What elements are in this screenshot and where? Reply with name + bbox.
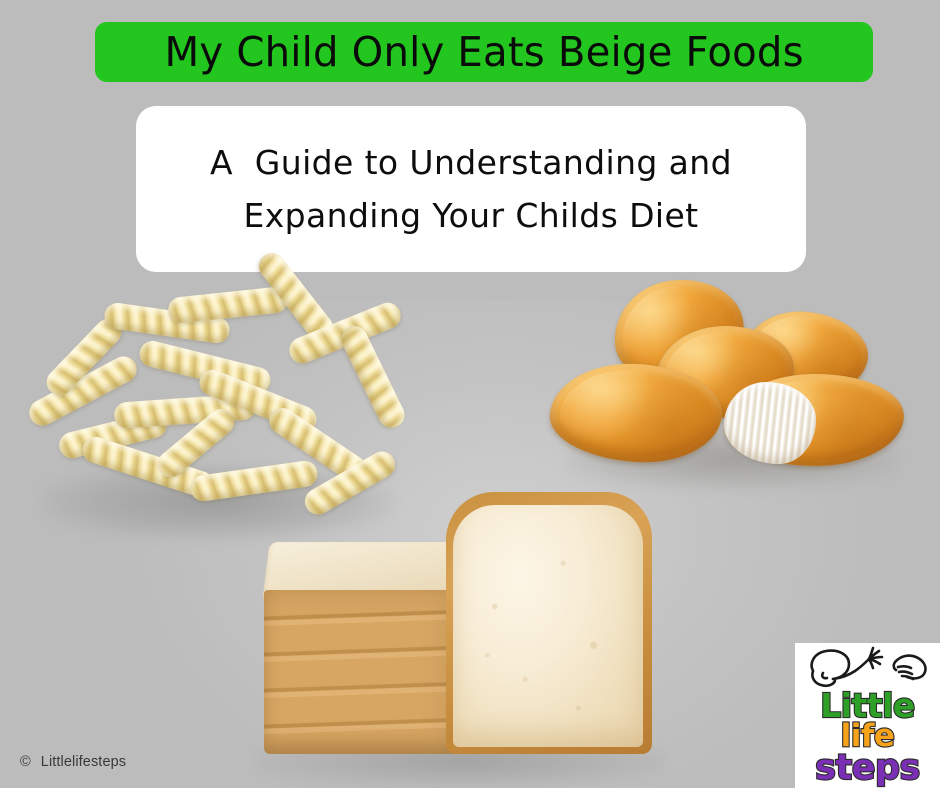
white-bread-image — [250, 482, 674, 782]
nugget — [740, 306, 872, 401]
bread-upright-slice — [446, 492, 652, 754]
logo-word-little: Little — [820, 691, 915, 721]
bread-stack — [264, 542, 480, 754]
bread-slice-crust — [446, 492, 652, 754]
pasta-piece — [285, 299, 404, 367]
pasta-piece — [41, 313, 126, 400]
pasta-piece — [189, 459, 319, 503]
pasta-piece — [103, 301, 231, 344]
title-banner: My Child Only Eats Beige Foods — [95, 22, 873, 82]
bread-slice-crumb — [453, 505, 643, 747]
nugget — [607, 271, 750, 392]
subtitle-line-1: A Guide to Understanding and — [210, 136, 732, 189]
logo-word-life: life — [841, 722, 895, 751]
background-glow — [120, 300, 880, 788]
page-title: My Child Only Eats Beige Foods — [164, 32, 803, 73]
subtitle-line-2: Expanding Your Childs Diet — [243, 189, 698, 242]
pasta-piece — [300, 447, 400, 520]
logo-word-steps: steps — [815, 752, 920, 784]
chicken-nuggets-image — [548, 278, 920, 490]
nugget-broken-open — [722, 371, 905, 469]
nugget — [654, 322, 797, 421]
pasta-piece — [113, 393, 256, 429]
pasta-piece — [56, 409, 169, 461]
nugget-white-meat — [724, 382, 816, 464]
pasta-piece — [79, 434, 216, 501]
nuggets-shadow — [568, 428, 898, 490]
copyright-text: Littlelifesteps — [41, 754, 126, 770]
poster-canvas: My Child Only Eats Beige Foods A Guide t… — [0, 0, 940, 788]
bread-shadow — [256, 734, 666, 788]
fusilli-pasta-image — [18, 282, 430, 550]
pasta-piece — [167, 286, 289, 324]
nugget — [548, 361, 723, 465]
pasta-piece — [264, 403, 371, 487]
pasta-piece — [25, 352, 141, 430]
pasta-piece — [196, 366, 321, 437]
pasta-piece — [152, 403, 239, 482]
copyright-notice: © Littlelifesteps — [20, 754, 126, 770]
pasta-piece — [137, 338, 273, 396]
subtitle-card: A Guide to Understanding and Expanding Y… — [136, 106, 806, 272]
bread-stack-top-slice — [262, 542, 481, 600]
pasta-piece — [337, 322, 409, 432]
bread-stack-crust-side — [264, 590, 474, 754]
pasta-shadow — [42, 464, 394, 540]
copyright-icon: © — [20, 754, 31, 770]
brand-logo[interactable]: Little life steps — [795, 643, 940, 788]
